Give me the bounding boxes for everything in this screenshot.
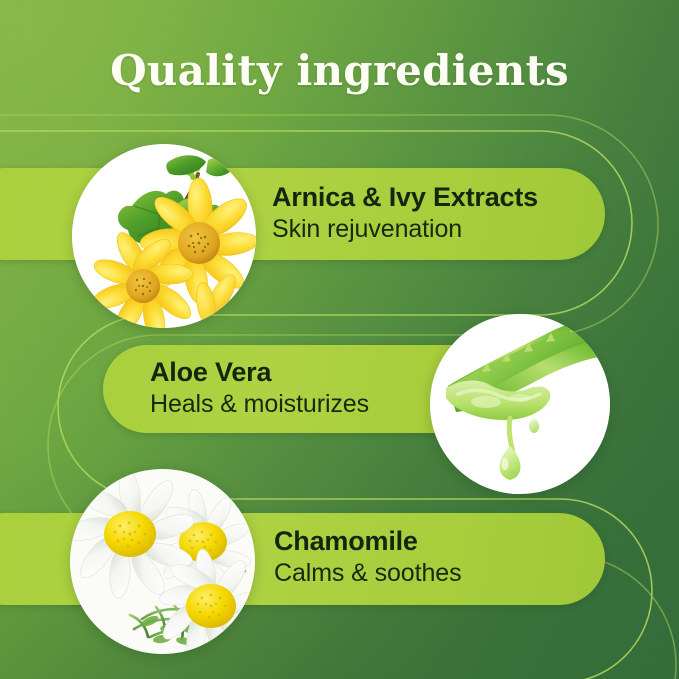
chamomile-illustration bbox=[70, 469, 255, 654]
ingredient-title-arnica-ivy: Arnica & Ivy Extracts bbox=[272, 183, 602, 212]
arnica-ivy-illustration bbox=[72, 144, 256, 328]
aloe-vera-photo bbox=[430, 314, 610, 494]
chamomile-photo bbox=[70, 469, 255, 654]
ingredient-subtitle-chamomile: Calms & soothes bbox=[274, 559, 594, 587]
ingredient-subtitle-arnica-ivy: Skin rejuvenation bbox=[272, 215, 602, 243]
ingredient-text-arnica-ivy: Arnica & Ivy Extracts Skin rejuvenation bbox=[272, 183, 602, 243]
aloe-vera-illustration bbox=[430, 314, 610, 494]
ingredient-title-chamomile: Chamomile bbox=[274, 527, 594, 556]
ingredient-text-aloe-vera: Aloe Vera Heals & moisturizes bbox=[150, 358, 450, 418]
quality-ingredients-panel: Quality ingredients Arnica & Ivy Extract… bbox=[0, 0, 679, 679]
ingredient-title-aloe-vera: Aloe Vera bbox=[150, 358, 450, 387]
ingredient-text-chamomile: Chamomile Calms & soothes bbox=[274, 527, 594, 587]
page-title: Quality ingredients bbox=[0, 46, 679, 95]
arnica-ivy-photo bbox=[72, 144, 256, 328]
ingredient-subtitle-aloe-vera: Heals & moisturizes bbox=[150, 390, 450, 418]
